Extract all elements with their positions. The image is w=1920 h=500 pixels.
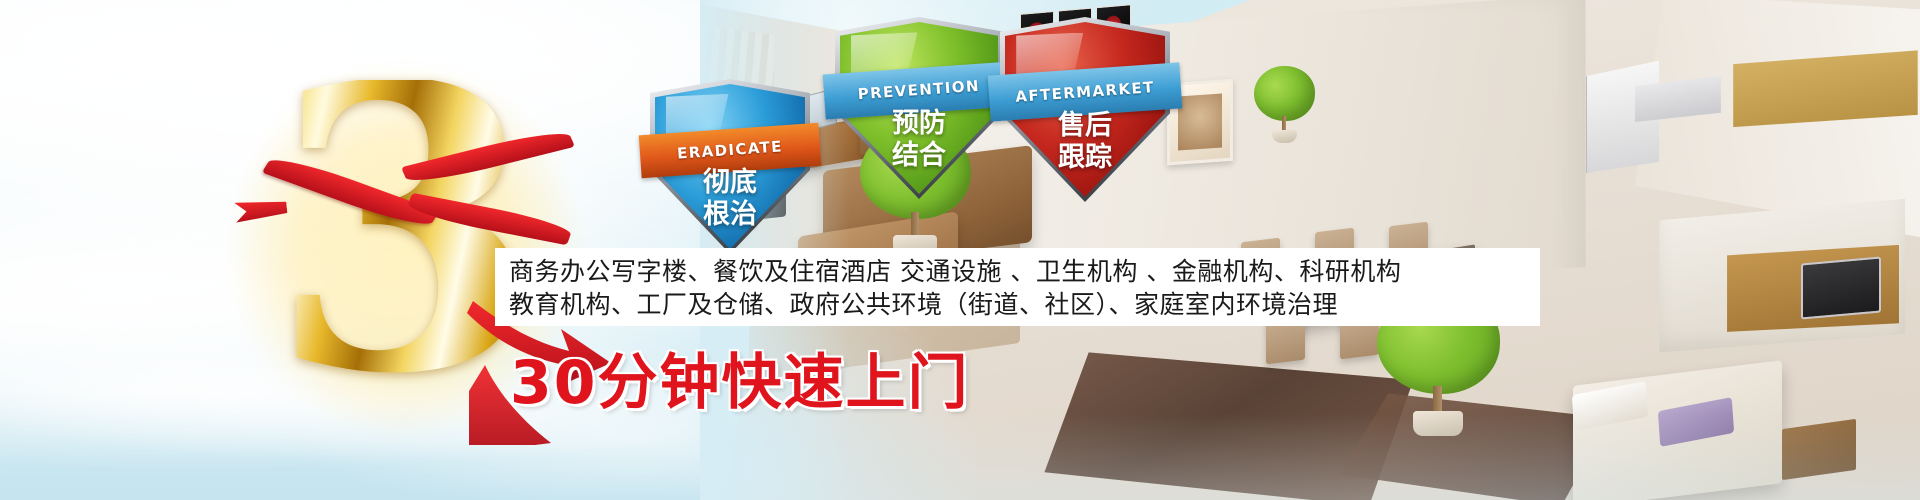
badge-chinese-line-1: 预防	[840, 108, 998, 140]
page-title: 30分钟快速上门	[510, 352, 970, 414]
badge-aftermarket[interactable]: AFTERMARKET 售后 跟踪	[1005, 22, 1165, 197]
badge-chinese-label: 预防 结合	[840, 108, 998, 172]
badge-chinese-line-1: 售后	[1005, 110, 1165, 142]
badge-chinese-label: 售后 跟踪	[1005, 110, 1165, 174]
badge-chinese-line-1: 彻底	[655, 167, 805, 199]
badge-eradicate[interactable]: ERADICATE 彻底 根治	[655, 84, 805, 249]
description-line-2: 教育机构、工厂及仓储、政府公共环境（街道、社区）、家庭室内环境治理	[509, 288, 1526, 321]
badge-english-label: PREVENTION	[857, 78, 980, 104]
description-line-1: 商务办公写字楼、餐饮及住宿酒店 交通设施 、卫生机构 、金融机构、科研机构	[509, 255, 1526, 288]
badge-english-label: AFTERMARKET	[1015, 78, 1155, 106]
description-panel: 商务办公写字楼、餐饮及住宿酒店 交通设施 、卫生机构 、金融机构、科研机构 教育…	[495, 248, 1540, 326]
promotional-banner: 3 ERADICATE 彻底	[0, 0, 1920, 500]
potted-plant-icon	[1254, 66, 1316, 143]
badge-english-label: ERADICATE	[677, 137, 784, 162]
badge-chinese-line-2: 根治	[655, 199, 805, 231]
nightstand	[1782, 419, 1856, 481]
badge-chinese-line-2: 跟踪	[1005, 142, 1165, 174]
badge-chinese-label: 彻底 根治	[655, 167, 805, 231]
badge-prevention[interactable]: PREVENTION 预防 结合	[840, 22, 998, 194]
oven-appliance	[1801, 257, 1881, 320]
badge-chinese-line-2: 结合	[840, 140, 998, 172]
